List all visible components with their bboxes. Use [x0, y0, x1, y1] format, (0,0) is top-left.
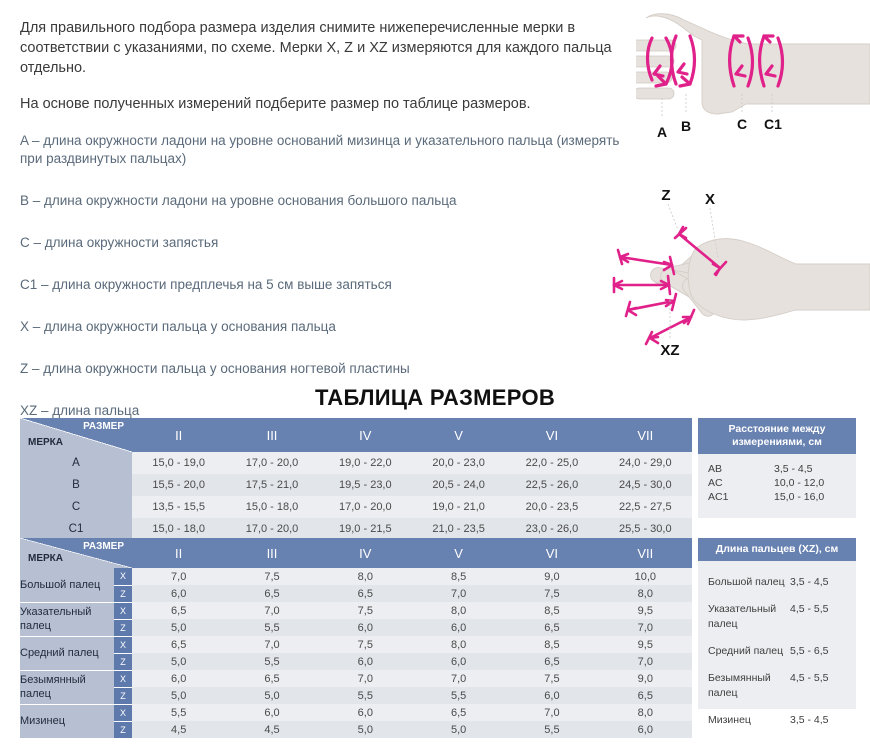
list-item: AB 3,5 - 4,5 [708, 462, 846, 476]
length-name-index: Указательный палец [708, 602, 790, 632]
finger-cell: 6,0 [319, 653, 412, 670]
finger-cell: 5,5 [412, 687, 505, 704]
finger-column-header-4: IV [319, 538, 412, 568]
length-value-middle: 5,5 - 6,5 [790, 644, 846, 659]
finger-cell: 8,5 [412, 568, 505, 585]
size-table: МЕРКА РАЗМЕР II III IV V VI VII A 15,0 -… [20, 418, 692, 540]
size-cell: 22,5 - 27,5 [599, 496, 692, 518]
table-row: Средний палец X 6,5 7,0 7,5 8,0 8,5 9,5 [20, 636, 692, 653]
size-cell: 17,5 - 21,0 [225, 474, 318, 496]
table-row: Z 5,0 5,5 6,0 6,0 6,5 7,0 [20, 653, 692, 670]
size-column-header-6: VI [505, 418, 598, 452]
distance-value-ab: 3,5 - 4,5 [774, 462, 846, 476]
finger-cell: 8,0 [599, 704, 692, 721]
finger-cell: 7,5 [505, 670, 598, 687]
finger-table-header-row: МЕРКА РАЗМЕР II III IV V VI VII [20, 538, 692, 568]
table-row: Z 4,5 4,5 5,0 5,0 5,5 6,0 [20, 721, 692, 738]
size-cell: 20,0 - 23,5 [505, 496, 598, 518]
size-cell: 15,0 - 18,0 [225, 496, 318, 518]
arm-label-b: B [681, 118, 691, 134]
finger-cell: 6,0 [319, 704, 412, 721]
length-value-ring: 4,5 - 5,5 [790, 671, 846, 701]
finger-cell: 6,5 [132, 636, 225, 653]
finger-cell: 4,5 [225, 721, 318, 738]
length-value-index: 4,5 - 5,5 [790, 602, 846, 632]
page-title: ТАБЛИЦА РАЗМЕРОВ [0, 385, 870, 411]
finger-cell: 6,0 [505, 687, 598, 704]
finger-cell: 8,0 [319, 568, 412, 585]
finger-cell: 6,5 [599, 687, 692, 704]
finger-cell: 5,0 [132, 687, 225, 704]
size-cell: 20,0 - 23,0 [412, 452, 505, 474]
distance-table-title: Расстояние между измерениями, см [698, 418, 856, 454]
finger-cell: 8,0 [599, 585, 692, 602]
finger-cell: 5,0 [412, 721, 505, 738]
table-row: Мизинец X 5,5 6,0 6,0 6,5 7,0 8,0 [20, 704, 692, 721]
size-cell: 15,0 - 19,0 [132, 452, 225, 474]
finger-cell: 5,0 [225, 687, 318, 704]
list-item: Указательный палец 4,5 - 5,5 [708, 602, 846, 632]
size-cell: 19,0 - 21,0 [412, 496, 505, 518]
size-cell: 24,5 - 30,0 [599, 474, 692, 496]
length-name-thumb: Большой палец [708, 575, 790, 590]
table-row: C 13,5 - 15,5 15,0 - 18,0 17,0 - 20,0 19… [20, 496, 692, 518]
x-marker: X [114, 568, 132, 585]
finger-cell: 6,5 [505, 619, 598, 636]
size-cell: 22,5 - 26,0 [505, 474, 598, 496]
corner-label-razmer: РАЗМЕР [83, 541, 124, 552]
size-cell: 17,0 - 20,0 [225, 518, 318, 540]
size-column-header-4: IV [319, 418, 412, 452]
list-item: AC1 15,0 - 16,0 [708, 490, 846, 504]
table-row: Безымянный палец X 6,0 6,5 7,0 7,0 7,5 9… [20, 670, 692, 687]
size-column-header-5: V [412, 418, 505, 452]
finger-measurement-table: МЕРКА РАЗМЕР II III IV V VI VII Большой … [20, 538, 692, 739]
finger-cell: 6,0 [319, 619, 412, 636]
list-item: Средний палец 5,5 - 6,5 [708, 644, 846, 659]
distance-name-ac1: AC1 [708, 490, 774, 504]
finger-cell: 7,0 [225, 602, 318, 619]
size-cell: 24,0 - 29,0 [599, 452, 692, 474]
hand-silhouette [688, 239, 870, 320]
finger-cell: 6,0 [225, 704, 318, 721]
size-cell: 19,0 - 21,5 [319, 518, 412, 540]
finger-length-table: Длина пальцев (XZ), см Большой палец 3,5… [698, 538, 856, 709]
finger-cell: 7,5 [505, 585, 598, 602]
measure-definition-x: X – длина окружности пальца у основания … [20, 318, 620, 336]
size-cell: 19,0 - 22,0 [319, 452, 412, 474]
finger-cell: 5,0 [319, 721, 412, 738]
length-name-little: Мизинец [708, 713, 790, 728]
finger-cell: 7,0 [319, 670, 412, 687]
size-cell: 15,0 - 18,0 [132, 518, 225, 540]
size-cell: 19,5 - 23,0 [319, 474, 412, 496]
z-marker: Z [114, 619, 132, 636]
size-table-corner-cell: МЕРКА РАЗМЕР [20, 418, 132, 452]
corner-label-merka: МЕРКА [28, 553, 63, 564]
length-name-middle: Средний палец [708, 644, 790, 659]
arm-label-c1: C1 [764, 116, 782, 132]
size-row-label-b: B [20, 474, 132, 496]
size-cell: 20,5 - 24,0 [412, 474, 505, 496]
finger-cell: 5,5 [319, 687, 412, 704]
distance-value-ac1: 15,0 - 16,0 [774, 490, 846, 504]
finger-cell: 4,5 [132, 721, 225, 738]
measure-definition-c1: C1 – длина окружности предплечья на 5 см… [20, 276, 620, 294]
distance-name-ab: AB [708, 462, 774, 476]
finger-column-header-7: VII [599, 538, 692, 568]
size-row-label-c1: C1 [20, 518, 132, 540]
finger-length-table-body: Большой палец 3,5 - 4,5 Указательный пал… [698, 561, 856, 709]
list-item: Большой палец 3,5 - 4,5 [708, 575, 846, 590]
finger-cell: 7,0 [225, 636, 318, 653]
finger-label-ring: Безымянный палец [20, 670, 114, 704]
size-cell: 25,5 - 30,0 [599, 518, 692, 540]
hand-label-xz: XZ [660, 342, 679, 359]
finger-cell: 6,5 [132, 602, 225, 619]
measure-definition-a: A – длина окружности ладони на уровне ос… [20, 132, 620, 168]
table-row: B 15,5 - 20,0 17,5 - 21,0 19,5 - 23,0 20… [20, 474, 692, 496]
finger-cell: 5,5 [225, 653, 318, 670]
finger-cell: 7,5 [319, 636, 412, 653]
finger-cell: 5,0 [132, 653, 225, 670]
z-marker: Z [114, 585, 132, 602]
size-cell: 22,0 - 25,0 [505, 452, 598, 474]
finger-cell: 7,0 [599, 653, 692, 670]
size-cell: 15,5 - 20,0 [132, 474, 225, 496]
finger-cell: 5,5 [132, 704, 225, 721]
finger-column-header-5: V [412, 538, 505, 568]
finger-cell: 7,0 [132, 568, 225, 585]
finger-cell: 8,5 [505, 636, 598, 653]
intro-paragraph-2: На основе полученных измерений подберите… [20, 94, 620, 114]
x-marker: X [114, 704, 132, 721]
list-item: Мизинец 3,5 - 4,5 [708, 713, 846, 728]
hand-label-x: X [705, 191, 715, 208]
finger-label-thumb: Большой палец [20, 568, 114, 602]
list-item: Безымянный палец 4,5 - 5,5 [708, 671, 846, 701]
corner-label-razmer: РАЗМЕР [83, 421, 124, 432]
distance-name-ac: AC [708, 476, 774, 490]
z-marker: Z [114, 687, 132, 704]
distance-between-measurements-table: Расстояние между измерениями, см AB 3,5 … [698, 418, 856, 518]
list-item: AC 10,0 - 12,0 [708, 476, 846, 490]
finger-cell: 9,0 [599, 670, 692, 687]
x-marker: X [114, 602, 132, 619]
finger-cell: 6,0 [412, 653, 505, 670]
table-row: Z 5,0 5,0 5,5 5,5 6,0 6,5 [20, 687, 692, 704]
finger-cell: 6,5 [412, 704, 505, 721]
length-value-little: 3,5 - 4,5 [790, 713, 846, 728]
x-marker: X [114, 636, 132, 653]
arm-label-c: C [737, 116, 747, 132]
hand-label-z: Z [661, 187, 670, 204]
measure-definition-c: C – длина окружности запястья [20, 234, 620, 252]
table-row: A 15,0 - 19,0 17,0 - 20,0 19,0 - 22,0 20… [20, 452, 692, 474]
intro-text-block: Для правильного подбора размера изделия … [20, 18, 620, 130]
finger-cell: 8,0 [412, 636, 505, 653]
size-column-header-3: III [225, 418, 318, 452]
arm-measurement-diagram: A B C C1 [636, 6, 870, 156]
size-cell: 21,0 - 23,5 [412, 518, 505, 540]
z-marker: Z [114, 721, 132, 738]
finger-label-index: Указательный палец [20, 602, 114, 636]
measure-definition-b: B – длина окружности ладони на уровне ос… [20, 192, 620, 210]
length-name-ring: Безымянный палец [708, 671, 790, 701]
z-marker: Z [114, 653, 132, 670]
size-column-header-7: VII [599, 418, 692, 452]
finger-cell: 8,5 [505, 602, 598, 619]
finger-cell: 9,5 [599, 636, 692, 653]
finger-cell: 7,5 [225, 568, 318, 585]
distance-table-body: AB 3,5 - 4,5 AC 10,0 - 12,0 AC1 15,0 - 1… [698, 454, 856, 518]
table-row: Указательный палец X 6,5 7,0 7,5 8,0 8,5… [20, 602, 692, 619]
finger-label-little: Мизинец [20, 704, 114, 738]
hand-measurement-diagram: Z X XZ [600, 182, 870, 362]
finger-cell: 5,5 [225, 619, 318, 636]
finger-column-header-6: VI [505, 538, 598, 568]
finger-cell: 7,0 [505, 704, 598, 721]
finger-cell: 6,5 [225, 670, 318, 687]
table-row: Z 5,0 5,5 6,0 6,0 6,5 7,0 [20, 619, 692, 636]
finger-cell: 7,0 [412, 670, 505, 687]
finger-cell: 7,0 [599, 619, 692, 636]
size-cell: 23,0 - 26,0 [505, 518, 598, 540]
corner-label-merka: МЕРКА [28, 437, 63, 448]
x-marker: X [114, 670, 132, 687]
finger-cell: 9,5 [599, 602, 692, 619]
size-row-label-c: C [20, 496, 132, 518]
arm-label-a: A [657, 124, 667, 140]
table-row: Большой палец X 7,0 7,5 8,0 8,5 9,0 10,0 [20, 568, 692, 585]
size-cell: 17,0 - 20,0 [319, 496, 412, 518]
finger-cell: 6,0 [132, 585, 225, 602]
finger-cell: 6,0 [599, 721, 692, 738]
finger-cell: 6,5 [505, 653, 598, 670]
intro-paragraph-1: Для правильного подбора размера изделия … [20, 18, 620, 78]
finger-column-header-2: II [132, 538, 225, 568]
finger-cell: 6,5 [225, 585, 318, 602]
size-cell: 17,0 - 20,0 [225, 452, 318, 474]
finger-cell: 6,0 [132, 670, 225, 687]
size-table-header-row: МЕРКА РАЗМЕР II III IV V VI VII [20, 418, 692, 452]
finger-table-corner-cell: МЕРКА РАЗМЕР [20, 538, 132, 568]
arm-silhouette [646, 14, 870, 114]
finger-cell: 6,5 [319, 585, 412, 602]
table-row: Z 6,0 6,5 6,5 7,0 7,5 8,0 [20, 585, 692, 602]
finger-cell: 7,5 [319, 602, 412, 619]
finger-cell: 5,5 [505, 721, 598, 738]
size-row-label-a: A [20, 452, 132, 474]
finger-label-middle: Средний палец [20, 636, 114, 670]
finger-cell: 7,0 [412, 585, 505, 602]
finger-cell: 10,0 [599, 568, 692, 585]
length-value-thumb: 3,5 - 4,5 [790, 575, 846, 590]
size-column-header-2: II [132, 418, 225, 452]
size-cell: 13,5 - 15,5 [132, 496, 225, 518]
finger-length-table-title: Длина пальцев (XZ), см [698, 538, 856, 561]
measure-definition-z: Z – длина окружности пальца у основания … [20, 360, 620, 378]
finger-cell: 6,0 [412, 619, 505, 636]
finger-cell: 9,0 [505, 568, 598, 585]
table-row: C1 15,0 - 18,0 17,0 - 20,0 19,0 - 21,5 2… [20, 518, 692, 540]
distance-value-ac: 10,0 - 12,0 [774, 476, 846, 490]
finger-cell: 5,0 [132, 619, 225, 636]
finger-column-header-3: III [225, 538, 318, 568]
finger-cell: 8,0 [412, 602, 505, 619]
